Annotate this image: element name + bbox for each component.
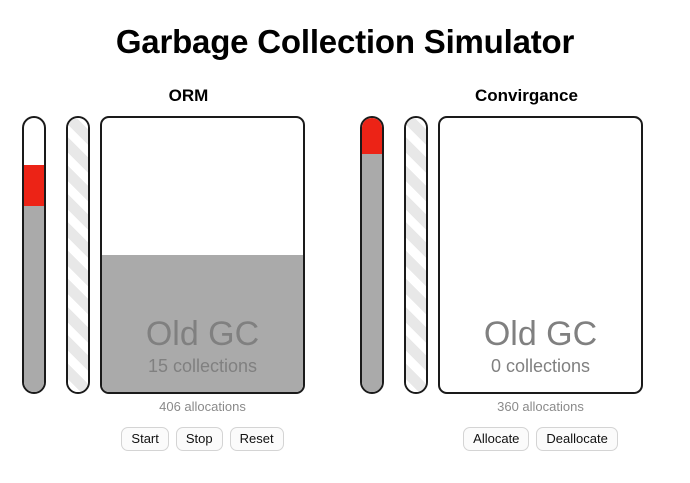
controls-convirgance: Allocate Deallocate: [438, 427, 643, 451]
old-generation-label: Old GC: [440, 314, 641, 354]
old-generation-box-convirgance: Old GC 0 collections: [438, 116, 643, 394]
start-button[interactable]: Start: [121, 427, 168, 451]
old-generation-labels: Old GC 0 collections: [440, 314, 641, 378]
striped-pattern-icon: [68, 118, 88, 392]
eden-fill: [362, 118, 382, 392]
panel-title-convirgance: Convirgance: [410, 86, 643, 106]
eden-space-bar-orm: [22, 116, 46, 394]
eden-hot-region: [362, 118, 382, 154]
eden-space-bar-convirgance: [360, 116, 384, 394]
eden-hot-region: [24, 165, 44, 206]
old-generation-collections: 0 collections: [440, 354, 641, 378]
old-generation-box-orm: Old GC 15 collections: [100, 116, 305, 394]
survivor-space-bar-orm: [66, 116, 90, 394]
controls-orm: Start Stop Reset: [100, 427, 305, 451]
allocations-count-orm: 406 allocations: [100, 399, 305, 415]
reset-button[interactable]: Reset: [230, 427, 284, 451]
striped-pattern-icon: [406, 118, 426, 392]
old-generation-label: Old GC: [102, 314, 303, 354]
stop-button[interactable]: Stop: [176, 427, 223, 451]
survivor-space-bar-convirgance: [404, 116, 428, 394]
old-generation-labels: Old GC 15 collections: [102, 314, 303, 378]
gc-simulator-app: Garbage Collection Simulator ORM Old GC …: [0, 0, 690, 483]
page-title: Garbage Collection Simulator: [0, 22, 690, 62]
allocate-button[interactable]: Allocate: [463, 427, 529, 451]
panel-convirgance: Convirgance Old GC 0 collections 360 all…: [360, 86, 643, 106]
deallocate-button[interactable]: Deallocate: [536, 427, 617, 451]
allocations-count-convirgance: 360 allocations: [438, 399, 643, 415]
old-generation-collections: 15 collections: [102, 354, 303, 378]
panel-orm: ORM Old GC 15 collections 406 allocation…: [22, 86, 305, 106]
panel-title-orm: ORM: [72, 86, 305, 106]
